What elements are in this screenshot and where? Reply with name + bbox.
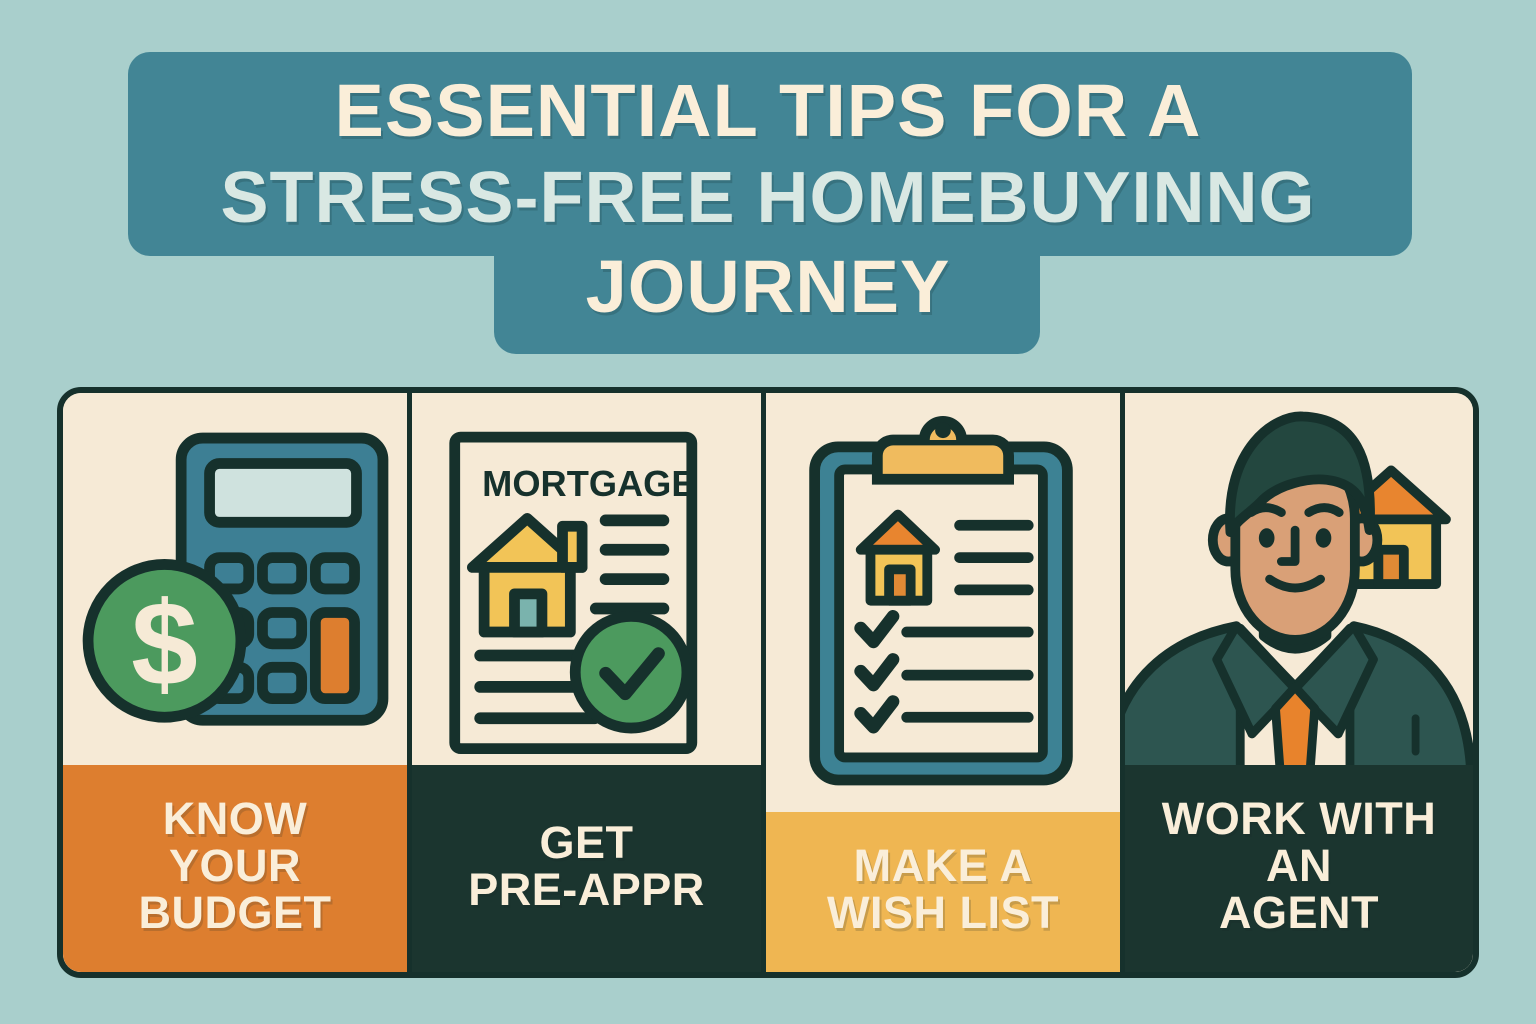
panel-label-know-your-budget: KNOW YOUR BUDGET bbox=[63, 765, 407, 972]
title-block: ESSENTIAL TIPS FOR A STRESS-FREE HOMEBUY… bbox=[0, 0, 1536, 380]
infographic-canvas: ESSENTIAL TIPS FOR A STRESS-FREE HOMEBUY… bbox=[0, 0, 1536, 1024]
label-line-3: AGENT bbox=[1219, 890, 1379, 937]
tips-card: $ KNOW YOUR BUDGET MORTGAGE bbox=[57, 387, 1479, 978]
title-line-1: ESSENTIAL TIPS FOR A bbox=[0, 74, 1536, 148]
label-line-3: BUDGET bbox=[139, 890, 332, 937]
label-line-2: YOUR bbox=[169, 843, 301, 890]
panel-get-pre-approved[interactable]: MORTGAGE bbox=[407, 393, 761, 972]
panel-label-make-a-wish-list: MAKE A WISH LIST bbox=[766, 812, 1120, 972]
title-line-2: STRESS-FREE HOMEBUYINNG bbox=[0, 162, 1536, 234]
label-line-1: MAKE A bbox=[854, 843, 1033, 890]
panel-work-with-an-agent[interactable]: WORK WITH AN AGENT bbox=[1120, 393, 1473, 972]
label-line-2: PRE-APPR bbox=[468, 867, 705, 914]
document-heading: MORTGAGE bbox=[482, 463, 695, 504]
label-line-1: KNOW bbox=[163, 796, 307, 843]
label-line-2: WISH LIST bbox=[827, 890, 1059, 937]
panel-make-a-wish-list[interactable]: MAKE A WISH LIST bbox=[761, 393, 1120, 972]
title-line-3: JOURNEY bbox=[0, 250, 1536, 324]
panel-know-your-budget[interactable]: $ KNOW YOUR BUDGET bbox=[63, 393, 407, 972]
svg-text:$: $ bbox=[131, 578, 197, 711]
label-line-1: GET bbox=[540, 820, 634, 867]
panel-label-get-pre-approved: GET PRE-APPR bbox=[412, 765, 761, 972]
panel-label-work-with-an-agent: WORK WITH AN AGENT bbox=[1125, 765, 1473, 972]
label-line-2: AN bbox=[1266, 843, 1332, 890]
label-line-1: WORK WITH bbox=[1162, 796, 1436, 843]
